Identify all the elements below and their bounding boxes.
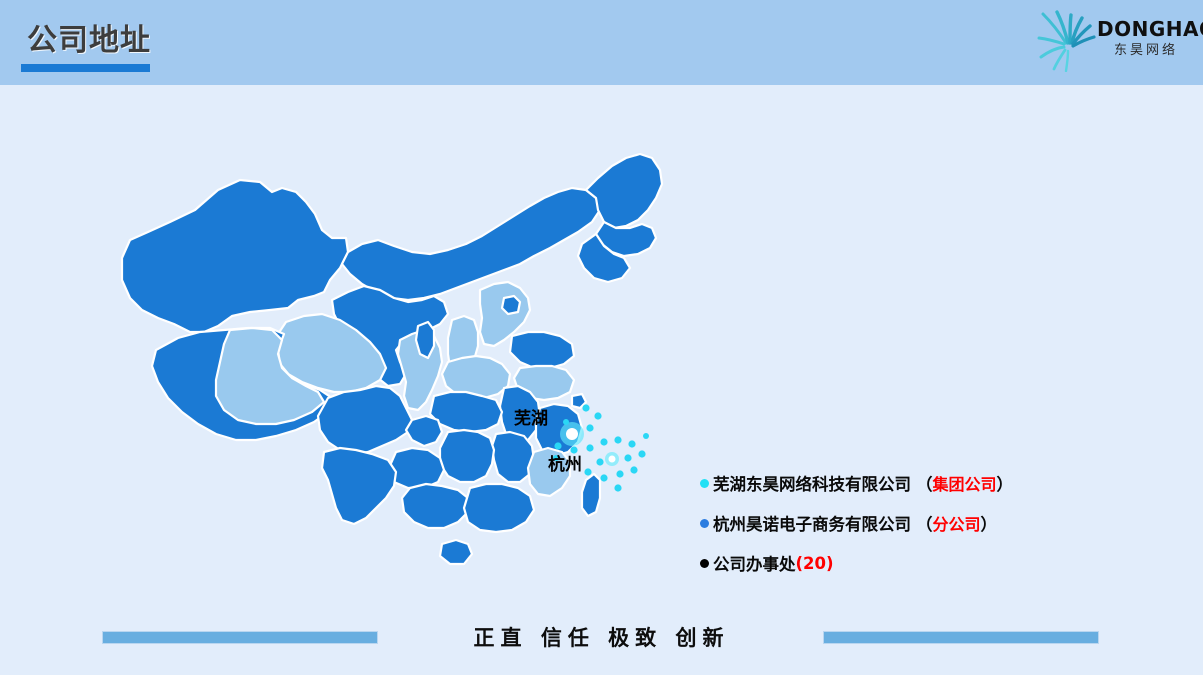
legend-paren-open: （ <box>916 471 933 495</box>
legend-office-count: (20) <box>796 554 834 573</box>
header-band <box>0 0 1203 85</box>
office-dot <box>628 440 635 447</box>
province-beijing <box>502 296 520 314</box>
office-dot <box>600 438 607 445</box>
marker-headquarters-core <box>566 428 578 440</box>
page-title: 公司地址 <box>27 22 151 60</box>
legend-tag: 集团公司 <box>933 471 997 495</box>
china-map-svg <box>100 140 700 610</box>
office-dot <box>600 474 607 481</box>
office-dot <box>616 470 623 477</box>
legend-item-headquarters: 芜湖东昊网络科技有限公司 （ 集团公司 ） <box>700 463 1120 503</box>
office-dot <box>614 484 621 491</box>
province-hainan <box>440 540 472 564</box>
office-dot <box>582 404 589 411</box>
logo-text-block: DONGHAO 东昊网络 <box>1097 18 1195 60</box>
office-dot <box>614 436 621 443</box>
legend-paren-close: ） <box>997 471 1014 495</box>
legend-dot-icon <box>700 479 709 488</box>
province-ningxia <box>416 322 434 358</box>
office-dot <box>596 458 603 465</box>
province-xinjiang <box>122 180 348 332</box>
legend-label: 芜湖东昊网络科技有限公司 <box>713 471 911 495</box>
map-label-hangzhou: 杭州 <box>548 450 582 475</box>
office-dot <box>586 444 593 451</box>
legend-paren-open: （ <box>916 511 933 535</box>
legend-item-branch: 杭州昊诺电子商务有限公司 （ 分公司 ） <box>700 503 1120 543</box>
office-dot <box>554 442 561 449</box>
province-taiwan <box>582 474 600 516</box>
logo-name-en: DONGHAO <box>1097 18 1195 41</box>
wing-fan-icon <box>1035 10 1097 72</box>
office-dot <box>584 468 591 475</box>
office-dot <box>624 454 631 461</box>
office-dot <box>643 433 649 439</box>
legend-tag: 分公司 <box>933 511 981 535</box>
legend-dot-icon <box>700 559 709 568</box>
province-inner-mongolia <box>342 188 600 300</box>
province-hunan <box>440 430 494 482</box>
province-shandong <box>510 332 574 368</box>
marker-branch-core <box>609 456 616 463</box>
province-heilongjiang <box>586 154 662 228</box>
china-map-container: 芜湖 杭州 <box>100 140 700 610</box>
province-guangxi <box>402 484 468 528</box>
province-guizhou <box>388 448 444 488</box>
province-chongqing <box>406 416 442 446</box>
legend: 芜湖东昊网络科技有限公司 （ 集团公司 ） 杭州昊诺电子商务有限公司 （ 分公司… <box>700 463 1120 583</box>
office-dot <box>586 424 593 431</box>
legend-label: 公司办事处 <box>713 551 796 575</box>
province-sichuan <box>318 386 412 454</box>
legend-paren-close: ） <box>981 511 998 535</box>
legend-dot-icon <box>700 519 709 528</box>
province-yunnan <box>322 448 396 524</box>
footer-bar-right <box>823 631 1099 644</box>
legend-label: 杭州昊诺电子商务有限公司 <box>713 511 911 535</box>
office-dot <box>563 419 569 425</box>
office-dot <box>594 412 601 419</box>
company-logo: DONGHAO 东昊网络 <box>1035 8 1195 74</box>
office-dot <box>638 450 645 457</box>
map-label-wuhu: 芜湖 <box>514 404 548 429</box>
logo-name-cn: 东昊网络 <box>1097 42 1195 60</box>
title-underline-bar <box>21 64 150 72</box>
province-jiangxi <box>492 432 534 482</box>
office-dot <box>630 466 637 473</box>
province-guangdong <box>464 484 534 532</box>
legend-item-offices: 公司办事处 (20) <box>700 543 1120 583</box>
